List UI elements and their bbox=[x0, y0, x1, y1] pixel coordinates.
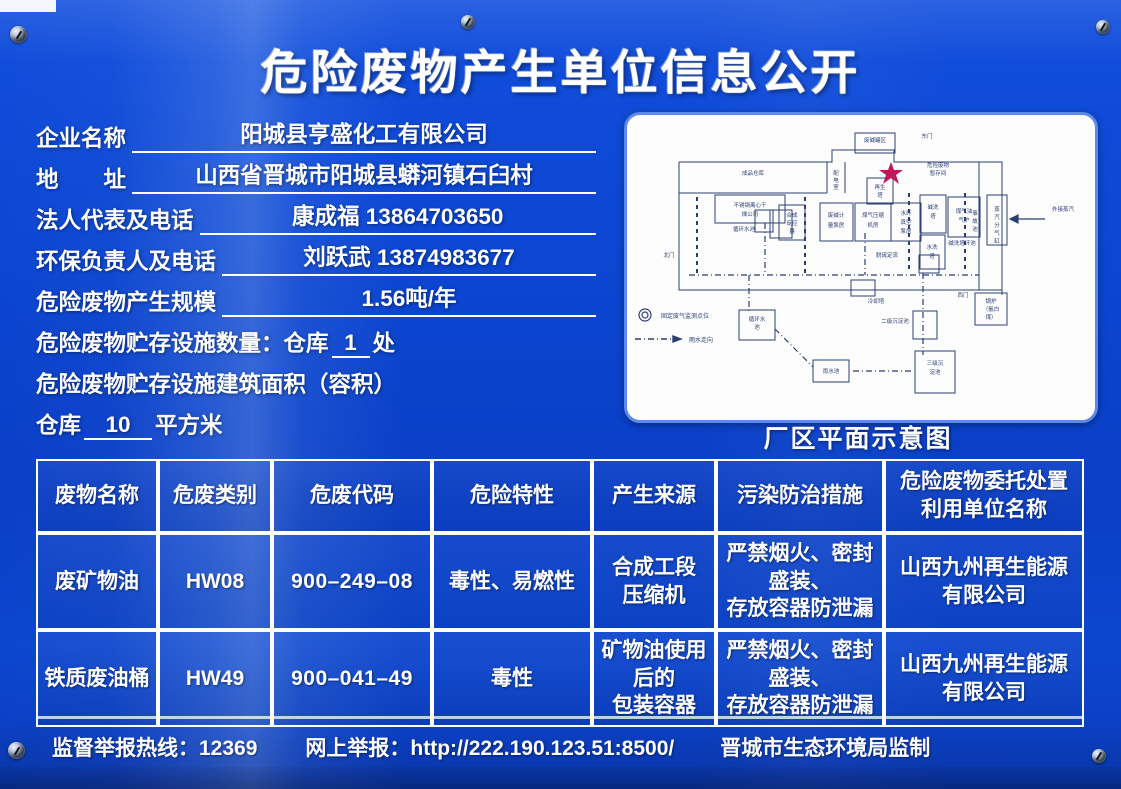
svg-text:煤气油: 煤气油 bbox=[956, 207, 973, 215]
mounting-screw-bottom-right bbox=[1092, 749, 1106, 763]
info-value-scale: 1.56吨/年 bbox=[222, 281, 596, 317]
svg-text:塔: 塔 bbox=[877, 191, 883, 199]
hazardous-waste-star bbox=[879, 162, 903, 184]
info-row-address: 地 址 山西省晋城市阳城县蟒河镇石臼村 bbox=[36, 153, 596, 194]
info-label: 企业名称 bbox=[36, 121, 126, 153]
th-entrusted-unit: 危险废物委托处置利用单位名称 bbox=[884, 459, 1084, 533]
svg-text:塔: 塔 bbox=[929, 252, 935, 260]
svg-text:配: 配 bbox=[833, 170, 839, 177]
svg-text:循环水池: 循环水池 bbox=[733, 225, 756, 233]
svg-text:水洗: 水洗 bbox=[926, 243, 938, 251]
svg-text:雨水池: 雨水池 bbox=[823, 367, 840, 375]
svg-text:不锈钢离心干: 不锈钢离心干 bbox=[733, 201, 767, 209]
th-hazard-property: 危险特性 bbox=[432, 459, 592, 533]
svg-text:东门: 东门 bbox=[921, 132, 932, 140]
info-row-warehouse-area: 仓库 10 平方米 bbox=[36, 399, 596, 440]
svg-text:合成: 合成 bbox=[786, 211, 798, 219]
svg-text:暂存间: 暂存间 bbox=[930, 169, 947, 177]
info-label: 仓库 bbox=[36, 408, 81, 440]
cell-hazard-property: 毒性、易燃性 bbox=[432, 533, 592, 630]
information-board: 危险废物产生单位信息公开 企业名称 阳城县亨盛化工有限公司 地 址 山西省晋城市… bbox=[0, 0, 1121, 789]
mounting-screw-top-right bbox=[1096, 20, 1110, 34]
svg-text:碱洗塔环池: 碱洗塔环池 bbox=[948, 239, 976, 247]
svg-text:池: 池 bbox=[972, 225, 978, 233]
svg-text:缸: 缸 bbox=[994, 237, 1000, 245]
cell-source: 矿物油使用后的包装容器 bbox=[592, 630, 716, 727]
mounting-screw-top-center bbox=[461, 15, 475, 29]
svg-text:量泵房: 量泵房 bbox=[828, 221, 845, 229]
info-row-env-officer: 环保负责人及电话 刘跃武 13874983677 bbox=[36, 235, 596, 276]
svg-text:池: 池 bbox=[754, 323, 760, 331]
info-value-warehouse-area: 10 bbox=[84, 412, 152, 440]
info-suffix-facility-count: 处 bbox=[373, 326, 396, 358]
table-header-row: 废物名称 危废类别 危废代码 危险特性 产生来源 污染防治措施 危险废物委托处置… bbox=[36, 459, 1084, 533]
svg-text:外接蒸汽: 外接蒸汽 bbox=[1052, 205, 1075, 213]
diagram-caption: 厂区平面示意图 bbox=[624, 419, 1092, 455]
svg-text:气炉: 气炉 bbox=[958, 216, 970, 224]
info-row-scale: 危险废物产生规模 1.56吨/年 bbox=[36, 276, 596, 317]
top-white-strip bbox=[0, 0, 56, 12]
svg-text:废碱计: 废碱计 bbox=[828, 211, 845, 219]
svg-text:泵房: 泵房 bbox=[900, 227, 912, 235]
info-row-facility-count: 危险废物贮存设施数量：仓库 1 处 bbox=[36, 317, 596, 358]
info-value-company-name: 阳城县亨盛化工有限公司 bbox=[132, 117, 596, 153]
mounting-screw-bottom-left bbox=[8, 742, 25, 759]
cell-waste-code: 900–041–49 bbox=[272, 630, 432, 727]
svg-text:机房: 机房 bbox=[867, 221, 879, 229]
info-label: 危险废物贮存设施数量：仓库 bbox=[36, 326, 329, 358]
company-info-block: 企业名称 阳城县亨盛化工有限公司 地 址 山西省晋城市阳城县蟒河镇石臼村 法人代… bbox=[36, 112, 596, 440]
info-row-legal-rep: 法人代表及电话 康成福 13864703650 bbox=[36, 194, 596, 235]
th-waste-category: 危废类别 bbox=[158, 459, 272, 533]
svg-text:燥公司: 燥公司 bbox=[742, 210, 759, 218]
svg-text:三级沉: 三级沉 bbox=[927, 359, 944, 367]
th-source: 产生来源 bbox=[592, 459, 716, 533]
svg-text:煤气压缩: 煤气压缩 bbox=[862, 211, 885, 219]
th-waste-code: 危废代码 bbox=[272, 459, 432, 533]
svg-text:塔: 塔 bbox=[930, 212, 936, 220]
table-row: 废矿物油 HW08 900–249–08 毒性、易燃性 合成工段压缩机 严禁烟火… bbox=[36, 533, 1084, 630]
cell-control-measures: 严禁烟火、密封盛装、存放容器防泄漏 bbox=[716, 533, 884, 630]
cell-entrusted-unit: 山西九州再生能源有限公司 bbox=[884, 533, 1084, 630]
svg-text:电: 电 bbox=[833, 176, 839, 184]
svg-text:蒸: 蒸 bbox=[994, 205, 1000, 213]
cell-waste-category: HW49 bbox=[158, 630, 272, 727]
info-label: 地 址 bbox=[36, 162, 126, 194]
svg-text:真空: 真空 bbox=[900, 218, 912, 226]
footer-authority: 晋城市生态环境局监制 bbox=[720, 732, 930, 762]
svg-text:水环: 水环 bbox=[900, 209, 912, 217]
svg-text:器: 器 bbox=[789, 228, 795, 235]
bottom-shadow-band bbox=[0, 767, 1121, 789]
info-label: 危险废物产生规模 bbox=[36, 285, 216, 317]
info-row-company-name: 企业名称 阳城县亨盛化工有限公司 bbox=[36, 112, 596, 153]
plant-layout-diagram: 成品仓库 配电室 废碱罐区 东门 危险废物 暂存间 再生塔 不锈钢离心干 燥公司… bbox=[624, 112, 1098, 423]
th-waste-name: 废物名称 bbox=[36, 459, 158, 533]
cell-entrusted-unit: 山西九州再生能源有限公司 bbox=[884, 630, 1084, 727]
cell-waste-name: 铁质废油桶 bbox=[36, 630, 158, 727]
svg-text:成品仓库: 成品仓库 bbox=[742, 169, 765, 177]
info-row-area-heading: 危险废物贮存设施建筑面积（容积） bbox=[36, 358, 596, 399]
svg-text:分: 分 bbox=[994, 221, 1000, 229]
svg-text:淀池: 淀池 bbox=[929, 368, 941, 376]
svg-text:循环水: 循环水 bbox=[749, 315, 766, 323]
cell-waste-category: HW08 bbox=[158, 533, 272, 630]
info-value-facility-count: 1 bbox=[332, 330, 370, 358]
info-value-env-officer: 刘跃武 13874983677 bbox=[222, 240, 596, 276]
info-label: 法人代表及电话 bbox=[36, 203, 194, 235]
svg-text:北门: 北门 bbox=[663, 251, 674, 259]
info-label: 环保负责人及电话 bbox=[36, 244, 216, 276]
cell-source: 合成工段压缩机 bbox=[592, 533, 716, 630]
cell-control-measures: 严禁烟火、密封盛装、存放容器防泄漏 bbox=[716, 630, 884, 727]
svg-text:故: 故 bbox=[972, 217, 978, 225]
footer: 监督举报热线：12369 网上举报：http://222.190.123.51:… bbox=[36, 727, 1084, 767]
svg-text:危险废物: 危险废物 bbox=[927, 161, 950, 169]
svg-text:脱硫定流: 脱硫定流 bbox=[876, 251, 899, 259]
footer-online-report: 网上举报：http://222.190.123.51:8500/ bbox=[305, 732, 674, 762]
th-control-measures: 污染防治措施 bbox=[716, 459, 884, 533]
svg-text:室: 室 bbox=[833, 183, 839, 191]
svg-text:再生: 再生 bbox=[874, 183, 886, 191]
info-value-address: 山西省晋城市阳城县蟒河镇石臼村 bbox=[132, 158, 596, 194]
legend-text-rainwater: 雨水走向 bbox=[689, 336, 713, 344]
info-suffix-warehouse-area: 平方米 bbox=[155, 408, 223, 440]
footer-hotline: 监督举报热线：12369 bbox=[52, 732, 257, 762]
hazardous-waste-table: 废物名称 危废类别 危废代码 危险特性 产生来源 污染防治措施 危险废物委托处置… bbox=[36, 459, 1084, 727]
info-label: 危险废物贮存设施建筑面积（容积） bbox=[36, 367, 396, 399]
svg-text:事: 事 bbox=[972, 209, 978, 217]
svg-text:西门: 西门 bbox=[957, 291, 968, 299]
svg-text:锅炉: 锅炉 bbox=[985, 297, 997, 305]
svg-text:碱洗: 碱洗 bbox=[927, 203, 939, 211]
legend-text-monitor-point: 固定废气监测点位 bbox=[661, 312, 709, 320]
svg-text:冷却塔: 冷却塔 bbox=[868, 297, 885, 305]
svg-text:二级沉淀池: 二级沉淀池 bbox=[881, 317, 909, 325]
svg-text:煤）: 煤） bbox=[985, 313, 996, 321]
svg-text:废碱罐区: 废碱罐区 bbox=[864, 136, 887, 144]
page-title: 危险废物产生单位信息公开 bbox=[0, 34, 1121, 103]
svg-text:汽: 汽 bbox=[994, 213, 1000, 221]
cell-waste-name: 废矿物油 bbox=[36, 533, 158, 630]
info-value-legal-rep: 康成福 13864703650 bbox=[200, 199, 596, 235]
svg-text:（氨白: （氨白 bbox=[983, 305, 1000, 313]
svg-text:气: 气 bbox=[994, 229, 1000, 237]
table-row: 铁质废油桶 HW49 900–041–49 毒性 矿物油使用后的包装容器 严禁烟… bbox=[36, 630, 1084, 727]
cell-hazard-property: 毒性 bbox=[432, 630, 592, 727]
footer-divider bbox=[36, 716, 1084, 719]
svg-text:反应: 反应 bbox=[786, 219, 798, 227]
cell-waste-code: 900–249–08 bbox=[272, 533, 432, 630]
